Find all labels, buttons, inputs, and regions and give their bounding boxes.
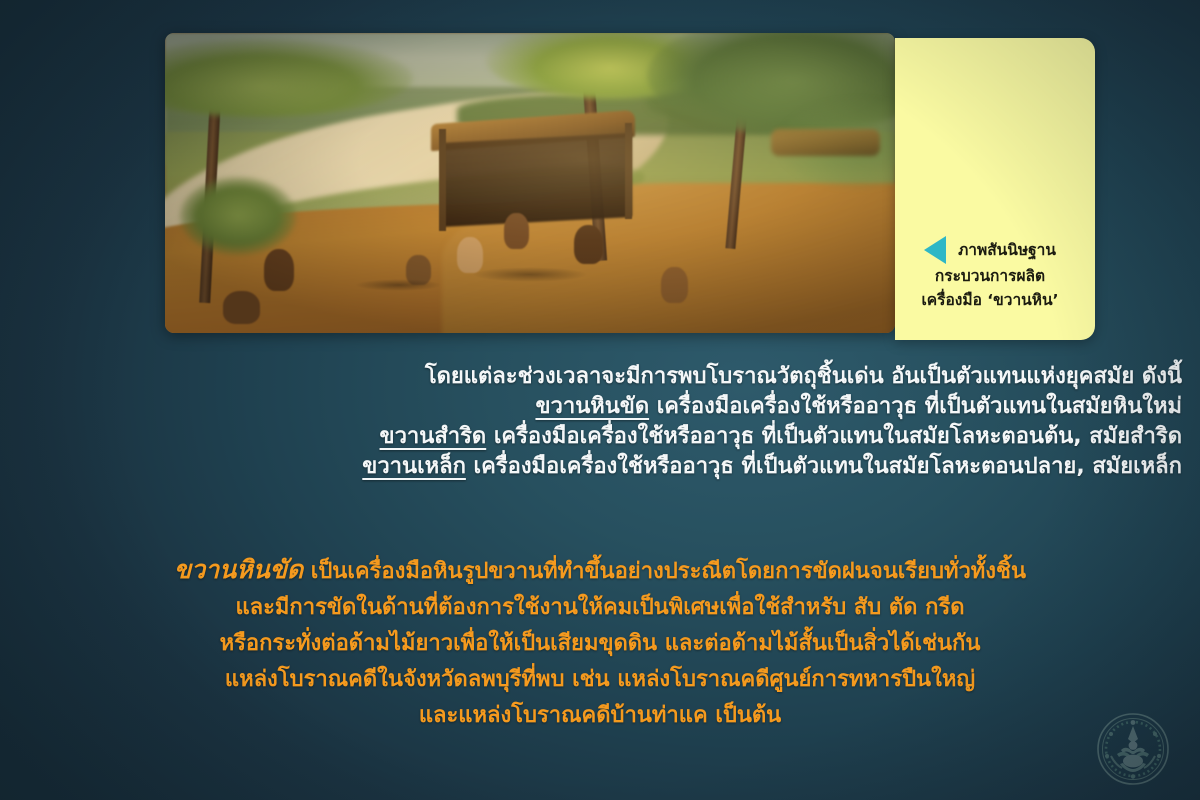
era-intro-line: โดยแต่ละช่วงเวลาจะมีการพบโบราณวัตถุชิ้นเ… xyxy=(0,362,1182,392)
era-line-neolithic-rest: เครื่องมือเครื่องใช้หรืออาวุธ ที่เป็นตัว… xyxy=(649,394,1182,419)
triangle-left-icon xyxy=(924,236,946,264)
orange-line-2: และมีการขัดในด้านที่ต้องการใช้งานให้คมเป… xyxy=(0,590,1200,626)
caption-line-2: กระบวนการผลิต xyxy=(895,264,1085,288)
era-line-iron: ขวานเหล็ก เครื่องมือเครื่องใช้หรืออาวุธ … xyxy=(0,452,1182,482)
term-polished-stone-axe: ขวานหินขัด xyxy=(535,394,649,419)
diorama-photo xyxy=(165,33,895,333)
lead-term-polished-stone-axe: ขวานหินขัด xyxy=(174,555,303,584)
term-iron-axe: ขวานเหล็ก xyxy=(362,454,466,479)
caption-first-row: ภาพสันนิษฐาน xyxy=(895,236,1085,264)
era-artifact-list: โดยแต่ละช่วงเวลาจะมีการพบโบราณวัตถุชิ้นเ… xyxy=(0,362,1200,482)
diorama-photo-artwork xyxy=(165,33,895,333)
orange-line-1: ขวานหินขัด เป็นเครื่องมือหินรูปขวานที่ทำ… xyxy=(0,552,1200,590)
orange-line-1-rest: เป็นเครื่องมือหินรูปขวานที่ทำขึ้นอย่างปร… xyxy=(303,559,1026,584)
caption-line-3: เครื่องมือ ‘ขวานหิน’ xyxy=(895,288,1085,312)
caption-card: ภาพสันนิษฐาน กระบวนการผลิต เครื่องมือ ‘ข… xyxy=(895,38,1095,340)
term-bronze-axe: ขวานสำริด xyxy=(380,424,487,449)
era-line-bronze: ขวานสำริด เครื่องมือเครื่องใช้หรืออาวุธ … xyxy=(0,422,1182,452)
orange-line-3: หรือกระทั่งต่อด้ามไม้ยาวเพื่อให้เป็นเสีย… xyxy=(0,626,1200,662)
orange-line-4: แหล่งโบราณคดีในจังหวัดลพบุรีที่พบ เช่น แ… xyxy=(0,662,1200,698)
fine-arts-department-seal xyxy=(1096,712,1170,786)
era-line-neolithic: ขวานหินขัด เครื่องมือเครื่องใช้หรืออาวุธ… xyxy=(0,392,1182,422)
slide-canvas: ภาพสันนิษฐาน กระบวนการผลิต เครื่องมือ ‘ข… xyxy=(0,0,1200,800)
polished-axe-description: ขวานหินขัด เป็นเครื่องมือหินรูปขวานที่ทำ… xyxy=(0,552,1200,734)
era-line-bronze-rest: เครื่องมือเครื่องใช้หรืออาวุธ ที่เป็นตัว… xyxy=(486,424,1182,449)
photo-warm-light-overlay xyxy=(165,33,895,333)
era-line-iron-rest: เครื่องมือเครื่องใช้หรืออาวุธ ที่เป็นตัว… xyxy=(466,454,1182,479)
orange-line-5: และแหล่งโบราณคดีบ้านท่าแค เป็นต้น xyxy=(0,698,1200,734)
caption-content: ภาพสันนิษฐาน กระบวนการผลิต เครื่องมือ ‘ข… xyxy=(895,236,1085,312)
caption-line-1: ภาพสันนิษฐาน xyxy=(958,238,1056,262)
